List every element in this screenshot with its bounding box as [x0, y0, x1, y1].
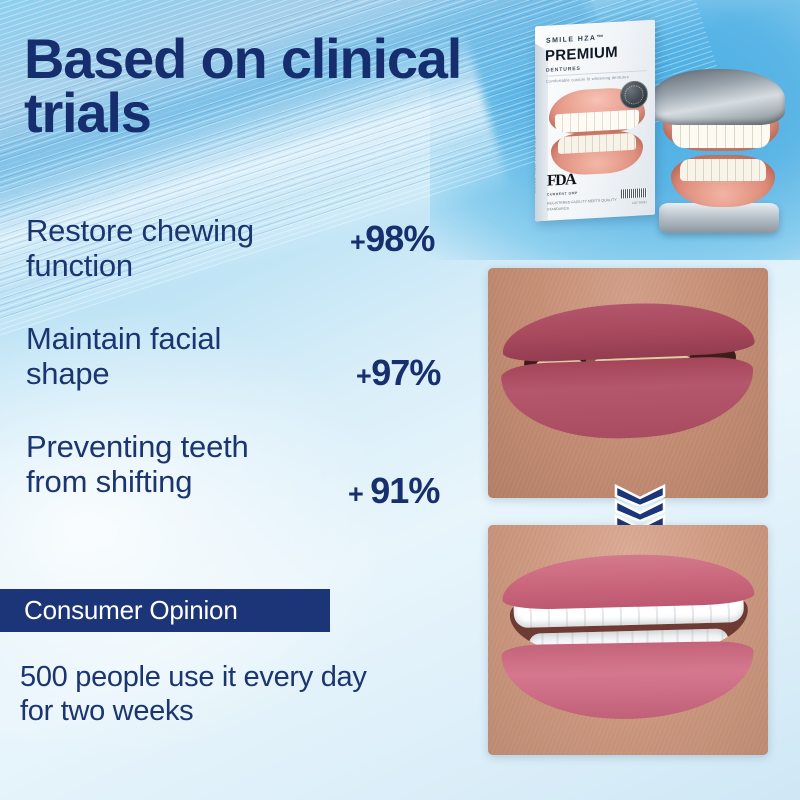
product-box: SMILE HZA™ PREMIUM DENTURES Comfortable …	[535, 20, 655, 222]
benefit-label: Maintain facial shape	[26, 322, 326, 391]
barcode-icon	[621, 188, 647, 198]
benefit-row: Preventing teeth from shifting +91%	[22, 430, 472, 538]
consumer-opinion-banner: Consumer Opinion	[0, 589, 330, 632]
benefit-stat: +97%	[356, 352, 440, 394]
benefit-stat: +91%	[348, 470, 439, 512]
denture-case	[645, 63, 795, 233]
lot-code-label: LOT 00261	[632, 200, 647, 205]
denture-case-lid	[651, 69, 785, 125]
benefit-row: Restore chewing function +98%	[22, 214, 472, 322]
product-title: PREMIUM	[545, 44, 618, 65]
fda-fine-print: REGISTERED FACILITY MEETS QUALITY STANDA…	[547, 196, 619, 212]
consumer-opinion-body: 500 people use it every day for two week…	[20, 660, 450, 728]
fda-sublabel: CURRENT GMP	[547, 191, 578, 197]
fda-logo-icon: FDA	[547, 171, 575, 191]
product-subtitle: DENTURES	[546, 66, 581, 74]
after-photo	[488, 525, 768, 755]
before-photo	[488, 268, 768, 498]
benefit-label: Restore chewing function	[26, 214, 326, 283]
benefit-row: Maintain facial shape +97%	[22, 322, 472, 430]
product-packaging: SMILE HZA™ PREMIUM DENTURES Comfortable …	[525, 8, 795, 233]
denture-case-base	[659, 203, 779, 233]
benefit-stat: +98%	[350, 218, 434, 260]
benefit-value: 97%	[371, 352, 440, 393]
product-brand: SMILE HZA™	[546, 34, 605, 44]
benefit-value: 98%	[365, 218, 434, 259]
benefit-label: Preventing teeth from shifting	[26, 430, 326, 499]
box-denture-lower	[551, 129, 643, 176]
denture-lower-arch	[671, 155, 775, 207]
consumer-opinion-label: Consumer Opinion	[24, 595, 238, 626]
advertisement-poster: Based on clinical trials Restore chewing…	[0, 0, 800, 800]
benefits-list: Restore chewing function +98% Maintain f…	[22, 214, 472, 538]
plus-sign: +	[348, 479, 363, 509]
plus-sign: +	[356, 361, 371, 391]
product-box-spine-text: SMILE HZA PREMIUM	[535, 135, 537, 193]
plus-sign: +	[350, 227, 365, 257]
page-title: Based on clinical trials	[24, 32, 494, 141]
benefit-value: 91%	[370, 470, 439, 511]
